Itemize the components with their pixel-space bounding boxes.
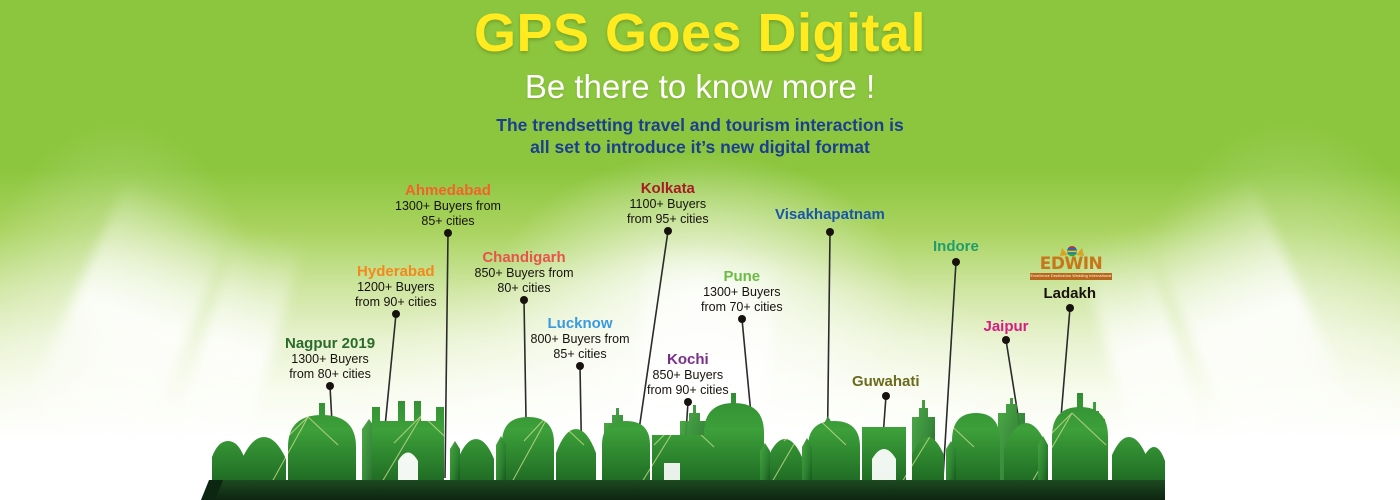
city-buyers-line2-pune: from 70+ cities	[701, 300, 783, 315]
city-buyers-line1-pune: 1300+ Buyers	[701, 285, 783, 300]
city-name-jaipur: Jaipur	[984, 318, 1029, 335]
pin-dot-hyderabad[interactable]	[392, 310, 400, 318]
city-name-lucknow: Lucknow	[531, 315, 630, 332]
pin-dot-chandigarh[interactable]	[520, 296, 528, 304]
city-name-pune: Pune	[701, 268, 783, 285]
city-label-jaipur[interactable]: Jaipur	[984, 318, 1029, 335]
city-buyers-line1-kolkata: 1100+ Buyers	[627, 197, 709, 212]
city-label-chandigarh[interactable]: Chandigarh850+ Buyers from80+ cities	[475, 249, 574, 295]
city-name-kochi: Kochi	[647, 351, 729, 368]
edwin-logo-strapline: Excellence Destination Wedding Internati…	[1030, 273, 1112, 280]
city-name-hyderabad: Hyderabad	[355, 263, 437, 280]
city-label-ahmedabad[interactable]: Ahmedabad1300+ Buyers from85+ cities	[395, 182, 501, 228]
city-buyers-line1-ahmedabad: 1300+ Buyers from	[395, 199, 501, 214]
pin-dot-jaipur[interactable]	[1002, 336, 1010, 344]
city-label-nagpur-2019[interactable]: Nagpur 20191300+ Buyersfrom 80+ cities	[285, 335, 375, 381]
pin-dot-kolkata[interactable]	[664, 227, 672, 235]
city-label-visakhapatnam[interactable]: Visakhapatnam	[775, 206, 885, 223]
city-name-visakhapatnam: Visakhapatnam	[775, 206, 885, 223]
city-buyers-line1-hyderabad: 1200+ Buyers	[355, 280, 437, 295]
gps-goes-digital-banner: GPS Goes Digital Be there to know more !…	[0, 0, 1400, 500]
pin-dot-visakhapatnam[interactable]	[826, 228, 834, 236]
city-label-kolkata[interactable]: Kolkata1100+ Buyersfrom 95+ cities	[627, 180, 709, 226]
city-buyers-line2-hyderabad: from 90+ cities	[355, 295, 437, 310]
city-name-ahmedabad: Ahmedabad	[395, 182, 501, 199]
city-label-hyderabad[interactable]: Hyderabad1200+ Buyersfrom 90+ cities	[355, 263, 437, 309]
city-label-ladakh[interactable]: Ladakh	[1044, 285, 1097, 302]
city-label-indore[interactable]: Indore	[933, 238, 979, 255]
pin-dot-indore[interactable]	[952, 258, 960, 266]
city-name-kolkata: Kolkata	[627, 180, 709, 197]
edwin-logo-wordmark: EDWIN	[1030, 255, 1112, 273]
city-buyers-line2-chandigarh: 80+ cities	[475, 281, 574, 296]
skyline-base-plinth	[212, 480, 1165, 500]
city-buyers-line2-ahmedabad: 85+ cities	[395, 214, 501, 229]
city-name-ladakh: Ladakh	[1044, 285, 1097, 302]
city-label-lucknow[interactable]: Lucknow800+ Buyers from85+ cities	[531, 315, 630, 361]
city-buyers-line1-chandigarh: 850+ Buyers from	[475, 266, 574, 281]
city-buyers-line1-lucknow: 800+ Buyers from	[531, 332, 630, 347]
city-buyers-line2-lucknow: 85+ cities	[531, 347, 630, 362]
city-buyers-line2-nagpur-2019: from 80+ cities	[285, 367, 375, 382]
city-label-pune[interactable]: Pune1300+ Buyersfrom 70+ cities	[701, 268, 783, 314]
pin-dot-ladakh[interactable]	[1066, 304, 1074, 312]
city-name-indore: Indore	[933, 238, 979, 255]
city-name-nagpur-2019: Nagpur 2019	[285, 335, 375, 352]
city-name-chandigarh: Chandigarh	[475, 249, 574, 266]
skyline-silhouette	[212, 387, 1165, 482]
city-skyline	[212, 390, 1165, 500]
city-buyers-line2-kolkata: from 95+ cities	[627, 212, 709, 227]
pin-dot-pune[interactable]	[738, 315, 746, 323]
pin-dot-ahmedabad[interactable]	[444, 229, 452, 237]
city-buyers-line1-nagpur-2019: 1300+ Buyers	[285, 352, 375, 367]
pin-dot-lucknow[interactable]	[576, 362, 584, 370]
city-buyers-line1-kochi: 850+ Buyers	[647, 368, 729, 383]
edwin-logo[interactable]: EDWIN Excellence Destination Wedding Int…	[1030, 246, 1112, 282]
